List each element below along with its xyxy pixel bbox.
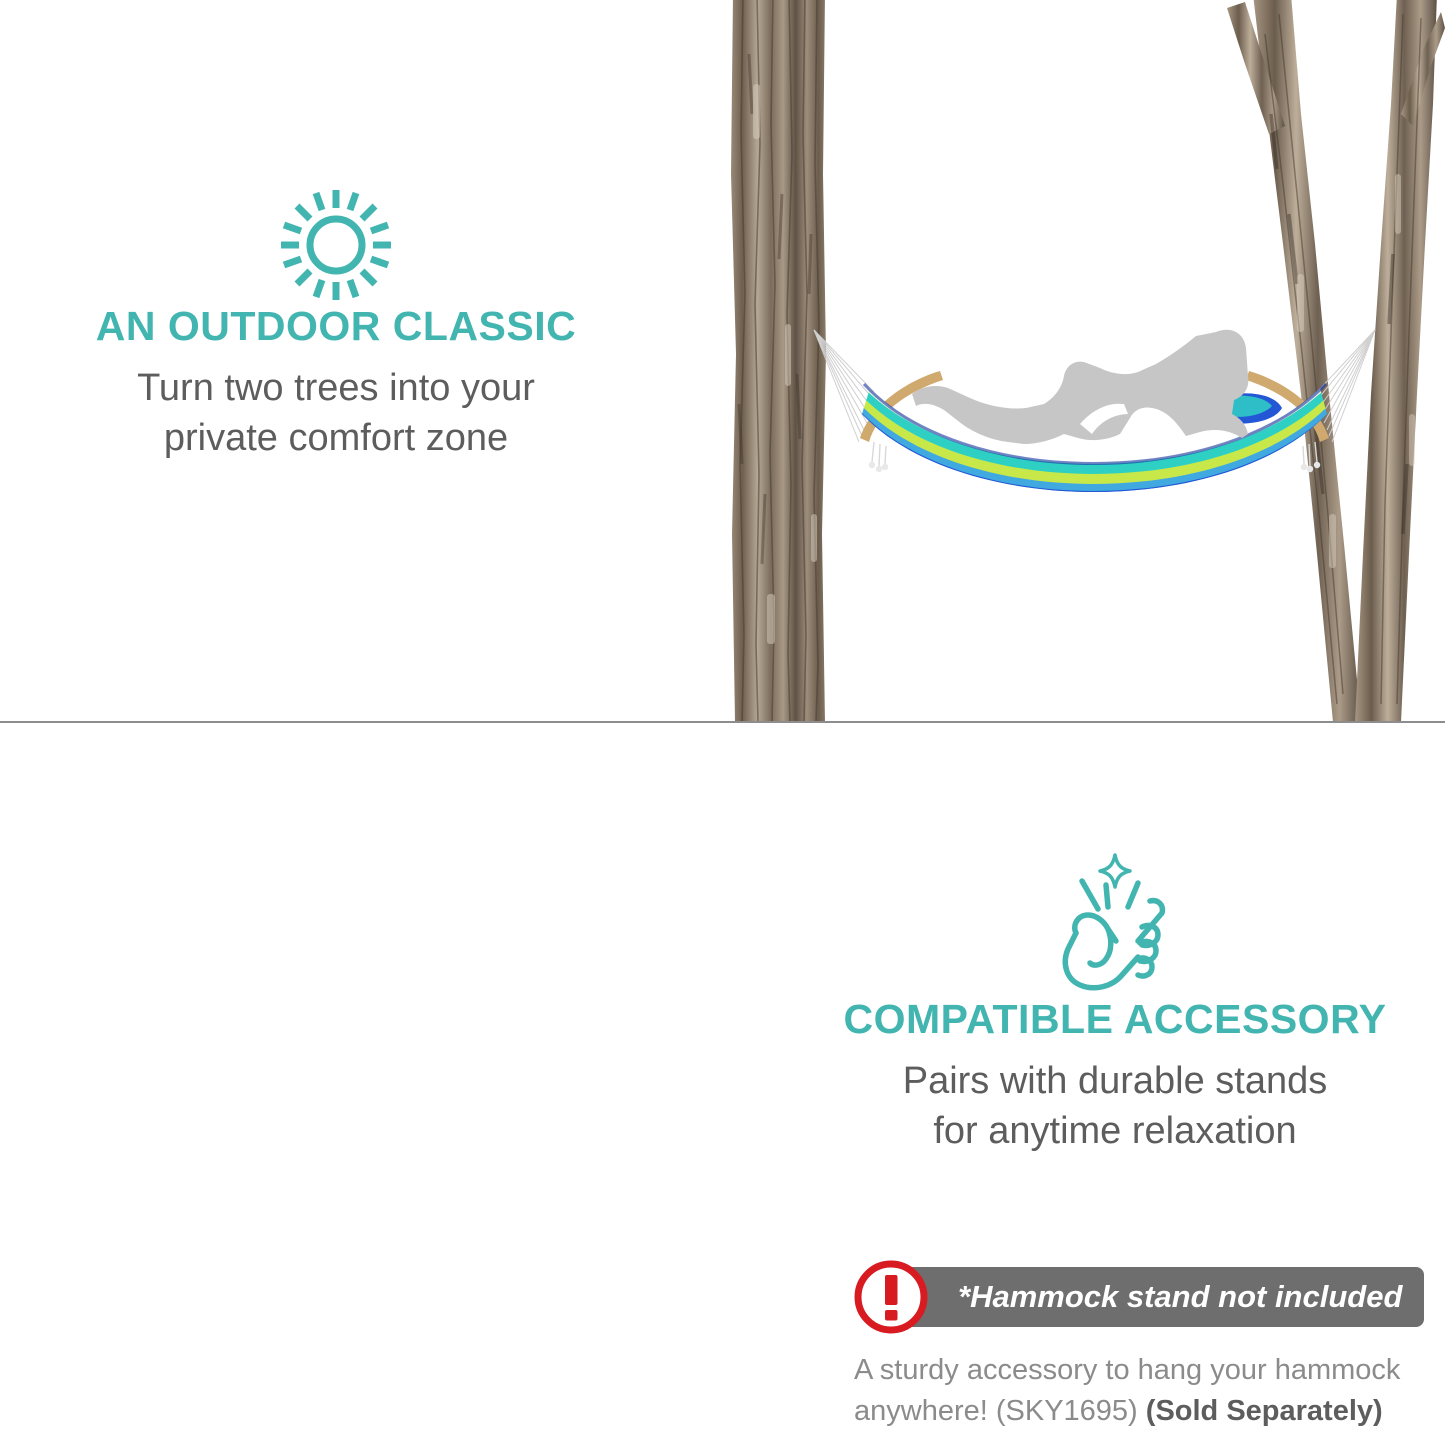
disclaimer-body: A sturdy accessory to hang your hammock … — [854, 1350, 1424, 1432]
feature-compatible-accessory: COMPATIBLE ACCESSORY Pairs with durable … — [800, 845, 1430, 1156]
person-silhouette — [912, 330, 1248, 444]
feature-subtitle-accessory: Pairs with durable stands for anytime re… — [800, 1056, 1430, 1156]
hammock-between-trees-image — [812, 318, 1377, 523]
not-included-pill: *Hammock stand not included — [896, 1267, 1424, 1327]
not-included-label: *Hammock stand not included — [958, 1279, 1402, 1315]
exclamation-circle-icon — [852, 1258, 930, 1336]
feature-outdoor-classic: AN OUTDOOR CLASSIC Turn two trees into y… — [28, 186, 644, 463]
subtitle-line-1: Turn two trees into your — [137, 367, 535, 409]
feature-subtitle-outdoor: Turn two trees into your private comfort… — [28, 363, 644, 463]
subtitle-line-2: private comfort zone — [164, 417, 508, 459]
subtitle-line-1: Pairs with durable stands — [903, 1060, 1328, 1102]
sun-icon — [277, 186, 395, 304]
finger-snap-icon — [1046, 845, 1184, 997]
subtitle-line-2: for anytime relaxation — [933, 1110, 1296, 1152]
feature-title-accessory: COMPATIBLE ACCESSORY — [800, 997, 1430, 1042]
product-infographic: AN OUTDOOR CLASSIC Turn two trees into y… — [0, 0, 1445, 1445]
feature-title-outdoor: AN OUTDOOR CLASSIC — [28, 304, 644, 349]
not-included-notice: *Hammock stand not included — [852, 1258, 1424, 1336]
sold-separately-label: (Sold Separately) — [1146, 1395, 1383, 1427]
disclaimer-line-1: A sturdy accessory to hang your hammock — [854, 1354, 1400, 1386]
disclaimer-block: *Hammock stand not included A sturdy acc… — [852, 1258, 1424, 1432]
disclaimer-line-2-plain: anywhere! (SKY1695) — [854, 1395, 1146, 1427]
